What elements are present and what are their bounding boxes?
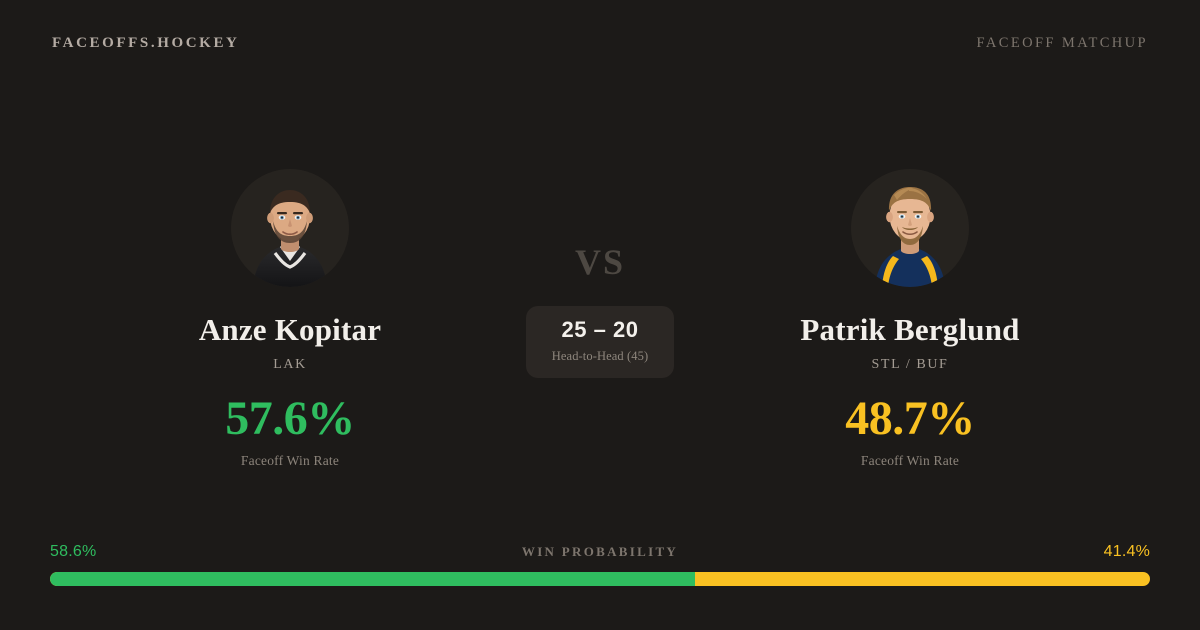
win-probability-bar[interactable] xyxy=(50,572,1150,586)
versus-label: VS xyxy=(575,241,625,283)
head-to-head-score: 25 – 20 xyxy=(562,319,639,341)
player-card-left[interactable]: Anze Kopitar LAK 57.6% Faceoff Win Rate xyxy=(75,86,505,469)
player-headshot-right xyxy=(851,169,969,287)
head-to-head-label: Head-to-Head (45) xyxy=(552,349,648,364)
player-faceoff-label-left: Faceoff Win Rate xyxy=(241,453,339,469)
win-probability-labels: 58.6% WIN PROBABILITY 41.4% xyxy=(50,543,1150,561)
matchup-stage: Anze Kopitar LAK 57.6% Faceoff Win Rate … xyxy=(0,86,1200,516)
player-team-right: STL / BUF xyxy=(872,357,949,373)
player-faceoff-pct-right: 48.7% xyxy=(845,395,975,443)
head-to-head-badge[interactable]: 25 – 20 Head-to-Head (45) xyxy=(526,306,674,378)
player-faceoff-pct-left: 57.6% xyxy=(225,395,355,443)
win-probability-section: 58.6% WIN PROBABILITY 41.4% xyxy=(50,543,1150,586)
win-probability-right-value: 41.4% xyxy=(1104,543,1150,561)
page-subtitle: FACEOFF MATCHUP xyxy=(976,35,1148,52)
player-headshot-left xyxy=(231,169,349,287)
win-probability-bar-fill-left xyxy=(50,572,695,586)
player-team-left: LAK xyxy=(273,357,307,373)
player-name-right: Patrik Berglund xyxy=(800,313,1019,347)
page-header: FACEOFFS.HOCKEY FACEOFF MATCHUP xyxy=(0,0,1200,86)
win-probability-title: WIN PROBABILITY xyxy=(522,544,678,560)
player-card-right[interactable]: Patrik Berglund STL / BUF 48.7% Faceoff … xyxy=(695,86,1125,469)
site-brand[interactable]: FACEOFFS.HOCKEY xyxy=(52,35,239,52)
player-name-left: Anze Kopitar xyxy=(199,313,381,347)
versus-column: VS 25 – 20 Head-to-Head (45) xyxy=(505,86,695,378)
win-probability-left-value: 58.6% xyxy=(50,543,96,561)
player-faceoff-label-right: Faceoff Win Rate xyxy=(861,453,959,469)
